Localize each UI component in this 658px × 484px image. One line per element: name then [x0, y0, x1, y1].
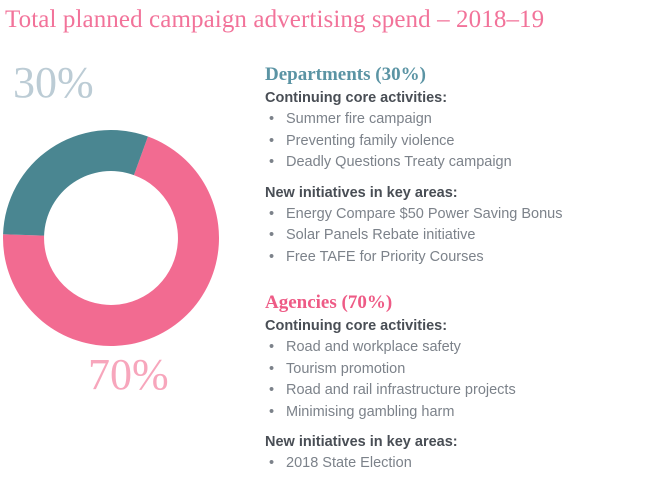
list-item-label: Minimising gambling harm [286, 404, 454, 420]
bullet-list: •2018 State Election [265, 453, 655, 475]
list-item: •Summer fire campaign [265, 109, 655, 131]
bullet-list: •Road and workplace safety •Tourism prom… [265, 337, 655, 423]
list-item-label: Energy Compare $50 Power Saving Bonus [286, 206, 562, 222]
list-item: •Solar Panels Rebate initiative [265, 225, 655, 247]
details-panel: Departments (30%) Continuing core activi… [265, 63, 655, 475]
list-item: •Minimising gambling harm [265, 402, 655, 424]
bullet-icon: • [269, 453, 274, 475]
donut-slices [3, 130, 219, 346]
group-agencies-continuing: Continuing core activities: •Road and wo… [265, 316, 655, 423]
infographic-page: Total planned campaign advertising spend… [0, 0, 658, 484]
list-item: •2018 State Election [265, 453, 655, 475]
bullet-icon: • [269, 109, 274, 131]
bullet-icon: • [269, 204, 274, 226]
list-item-label: Summer fire campaign [286, 111, 432, 127]
group-heading: New initiatives in key areas: [265, 183, 655, 204]
list-item-label: Free TAFE for Priority Courses [286, 249, 484, 265]
list-item: •Tourism promotion [265, 359, 655, 381]
bullet-icon: • [269, 337, 274, 359]
section-departments: Departments (30%) Continuing core activi… [265, 63, 655, 268]
donut-chart-panel: 30% 70% [0, 55, 250, 475]
list-item-label: Solar Panels Rebate initiative [286, 227, 475, 243]
spacer [265, 268, 655, 291]
bullet-icon: • [269, 402, 274, 424]
section-agencies: Agencies (70%) Continuing core activitie… [265, 291, 655, 475]
group-departments-continuing: Continuing core activities: •Summer fire… [265, 88, 655, 174]
list-item-label: Road and workplace safety [286, 339, 461, 355]
donut-label-agencies: 70% [88, 350, 169, 400]
list-item: •Deadly Questions Treaty campaign [265, 152, 655, 174]
list-item-label: Road and rail infrastructure projects [286, 382, 516, 398]
list-item: •Energy Compare $50 Power Saving Bonus [265, 204, 655, 226]
bullet-icon: • [269, 131, 274, 153]
group-agencies-new: New initiatives in key areas: •2018 Stat… [265, 432, 655, 475]
list-item: •Preventing family violence [265, 131, 655, 153]
page-title: Total planned campaign advertising spend… [5, 5, 645, 35]
bullet-list: •Energy Compare $50 Power Saving Bonus •… [265, 204, 655, 269]
list-item: •Road and rail infrastructure projects [265, 380, 655, 402]
group-heading: New initiatives in key areas: [265, 432, 655, 453]
list-item: •Road and workplace safety [265, 337, 655, 359]
bullet-list: •Summer fire campaign •Preventing family… [265, 109, 655, 174]
spacer [265, 423, 655, 432]
list-item: •Free TAFE for Priority Courses [265, 247, 655, 269]
donut-label-departments: 30% [13, 58, 94, 108]
section-heading-departments: Departments (30%) [265, 63, 655, 87]
group-departments-new: New initiatives in key areas: •Energy Co… [265, 183, 655, 269]
donut-slice-departments [3, 130, 148, 236]
bullet-icon: • [269, 380, 274, 402]
list-item-label: Deadly Questions Treaty campaign [286, 154, 512, 170]
list-item-label: 2018 State Election [286, 455, 412, 471]
list-item-label: Tourism promotion [286, 361, 405, 377]
list-item-label: Preventing family violence [286, 133, 454, 149]
group-heading: Continuing core activities: [265, 88, 655, 109]
spacer [265, 174, 655, 183]
donut-chart-svg [3, 130, 219, 346]
bullet-icon: • [269, 247, 274, 269]
section-heading-agencies: Agencies (70%) [265, 291, 655, 315]
bullet-icon: • [269, 225, 274, 247]
bullet-icon: • [269, 359, 274, 381]
bullet-icon: • [269, 152, 274, 174]
group-heading: Continuing core activities: [265, 316, 655, 337]
